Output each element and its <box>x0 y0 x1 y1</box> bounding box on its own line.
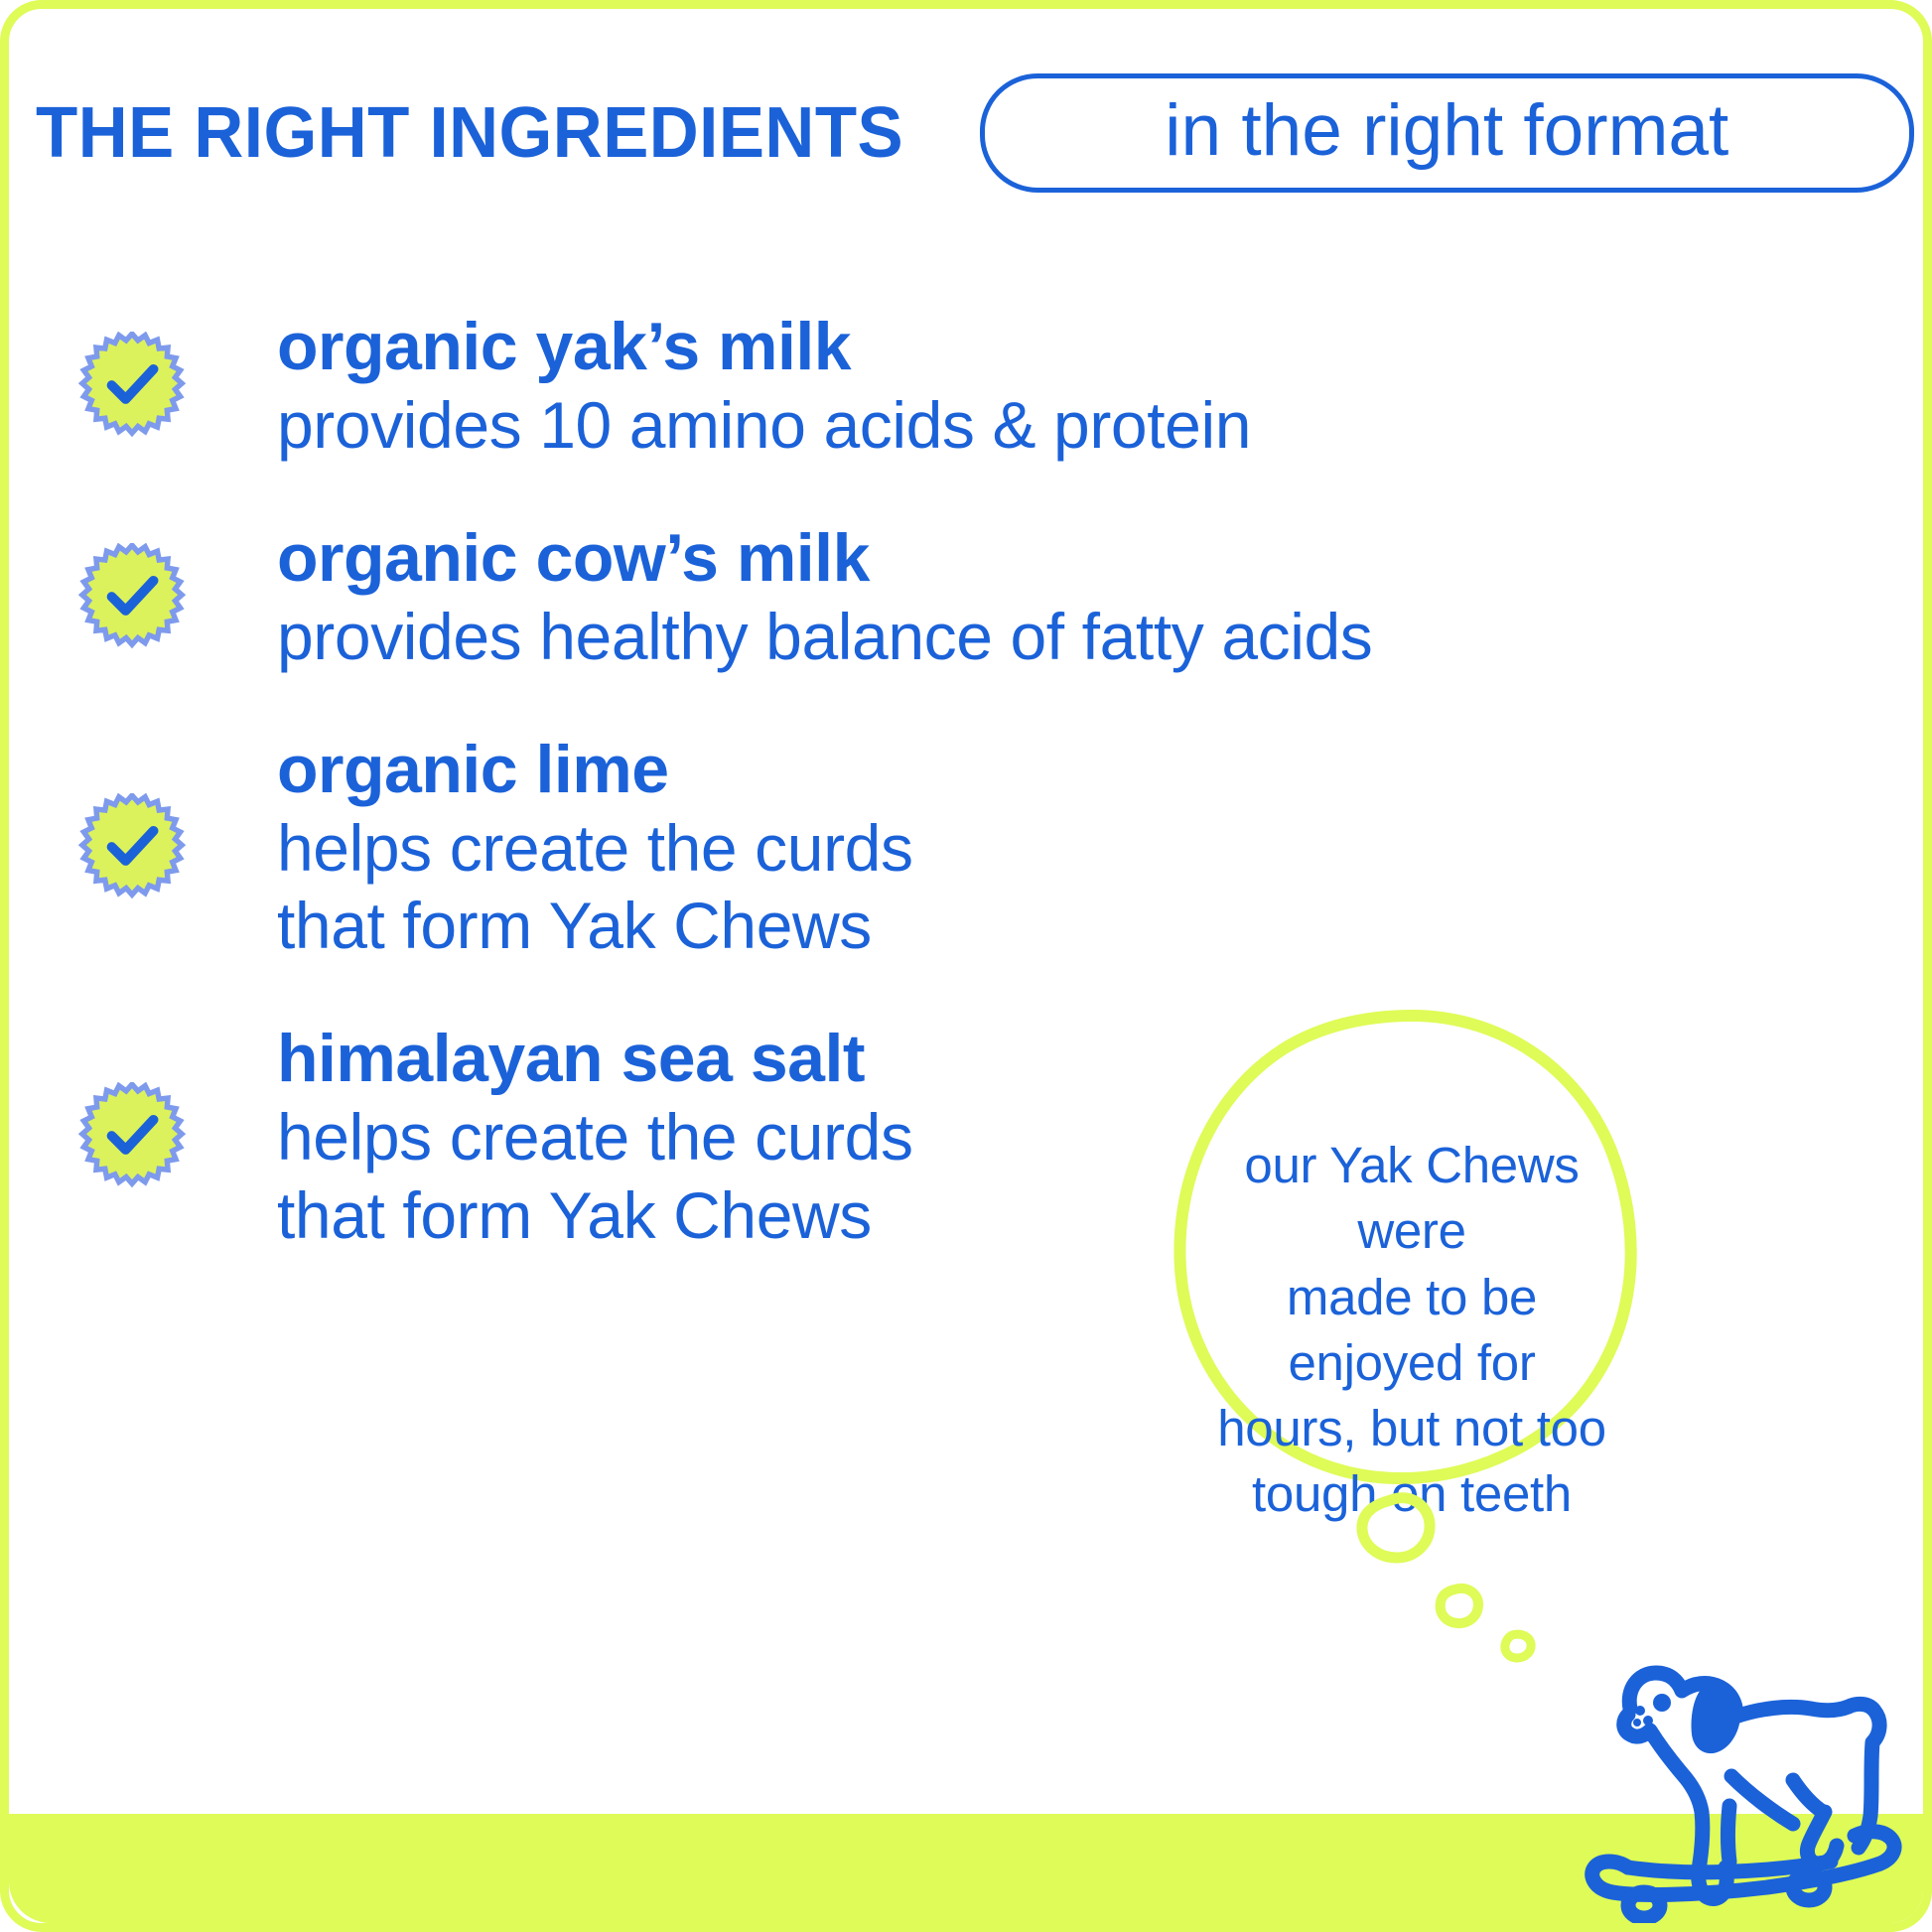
ingredient-desc-line: that form Yak Chews <box>277 887 1697 965</box>
ingredient-name: organic cow’s milk <box>277 518 1697 598</box>
page-title: THE RIGHT INGREDIENTS <box>36 97 903 169</box>
list-item: organic yak’s milk provides 10 amino aci… <box>9 307 1697 465</box>
badge-cell <box>9 332 277 439</box>
thought-bubble: our Yak Chews were made to be enjoyed fo… <box>1156 1002 1672 1498</box>
badge-cell <box>9 543 277 650</box>
list-item: organic cow’s milk provides healthy bala… <box>9 518 1697 676</box>
check-seal-icon <box>78 793 186 900</box>
ingredient-name: organic yak’s milk <box>277 307 1697 386</box>
ingredient-desc-line: helps create the curds <box>277 809 1697 888</box>
list-item-text: organic yak’s milk provides 10 amino aci… <box>277 307 1697 465</box>
badge-cell <box>9 793 277 900</box>
header-format-pill: in the right format <box>980 73 1914 193</box>
dog-on-skateboard-icon <box>1583 1617 1932 1932</box>
list-item: organic lime helps create the curds that… <box>9 730 1697 965</box>
check-seal-icon <box>78 543 186 650</box>
check-seal-icon <box>78 1082 186 1189</box>
ingredient-desc-line: provides healthy balance of fatty acids <box>277 598 1697 676</box>
check-seal-icon <box>78 332 186 439</box>
thought-bubble-line: our Yak Chews were <box>1207 1133 1616 1265</box>
header: THE RIGHT INGREDIENTS in the right forma… <box>36 69 1914 198</box>
list-item-text: organic cow’s milk provides healthy bala… <box>277 518 1697 676</box>
badge-cell <box>9 1082 277 1189</box>
thought-bubble-line: made to be enjoyed for <box>1207 1265 1616 1397</box>
ingredient-name: organic lime <box>277 730 1697 809</box>
list-item-text: organic lime helps create the curds that… <box>277 730 1697 965</box>
header-pill-label: in the right format <box>1165 94 1728 167</box>
ingredient-desc-line: provides 10 amino acids & protein <box>277 386 1697 465</box>
ingredients-card: THE RIGHT INGREDIENTS in the right forma… <box>0 0 1932 1932</box>
